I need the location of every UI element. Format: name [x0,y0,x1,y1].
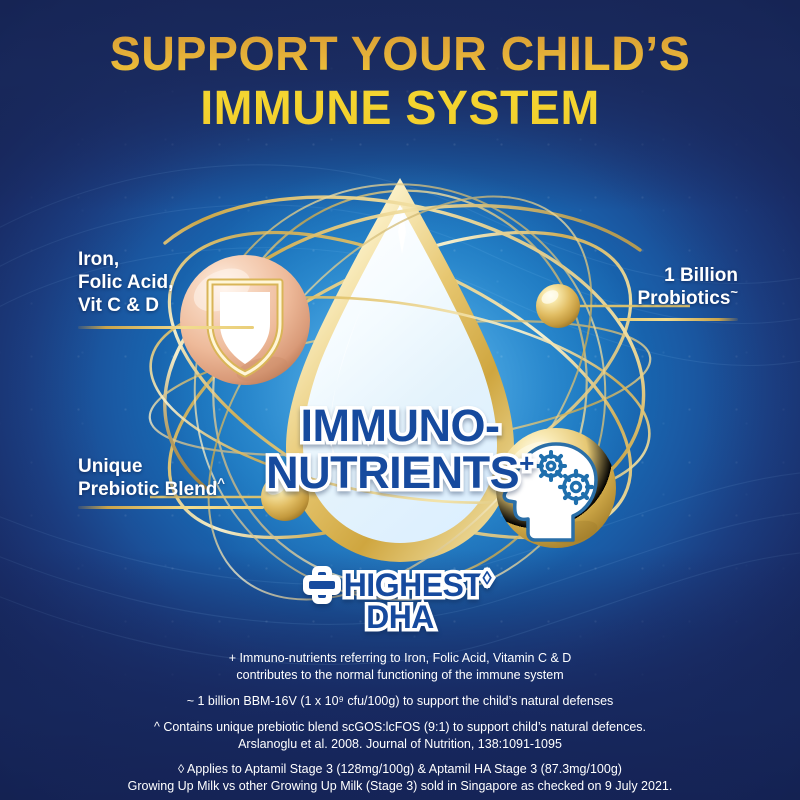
label-iron-folic-vitamins: Iron, Folic Acid, Vit C & D [78,248,173,318]
label-rule-prebiotic [78,506,264,509]
advertisement-canvas: SUPPORT YOUR CHILD’S IMMUNE SYSTEM [0,0,800,800]
label-probiotics-text: 1 Billion Probiotics [638,265,739,309]
label-prebiotic-superscript: ^ [217,476,225,491]
highest-text: HIGHEST [344,567,483,603]
highest-dha-label: HIGHEST◊DHA [0,536,800,634]
plus-icon [309,572,335,598]
label-rule-iron [78,326,254,329]
footnote-immuno-nutrients: + Immuno-nutrients referring to Iron, Fo… [40,650,760,684]
label-probiotics-superscript: ~ [730,285,738,300]
immuno-superscript: + [519,448,534,478]
label-rule-probiotics [618,318,738,321]
footnote-prebiotic: ^ Contains unique prebiotic blend scGOS:… [40,719,760,753]
label-probiotics: 1 Billion Probiotics~ [638,264,739,310]
immuno-nutrients-text: IMMUNO- NUTRIENTS [266,400,519,497]
footnote-dha: ◊ Applies to Aptamil Stage 3 (128mg/100g… [40,761,760,795]
footnotes: + Immuno-nutrients referring to Iron, Fo… [40,650,760,795]
label-prebiotic-blend: Unique Prebiotic Blend^ [78,455,225,501]
label-prebiotic-text: Unique Prebiotic Blend [78,456,217,500]
orbit-node-probiotics [536,284,580,328]
footnote-probiotics: ~ 1 billion BBM-16V (1 x 10⁹ cfu/100g) t… [40,693,760,710]
dha-text: DHA [366,599,434,635]
dha-superscript: ◊ [482,568,491,589]
